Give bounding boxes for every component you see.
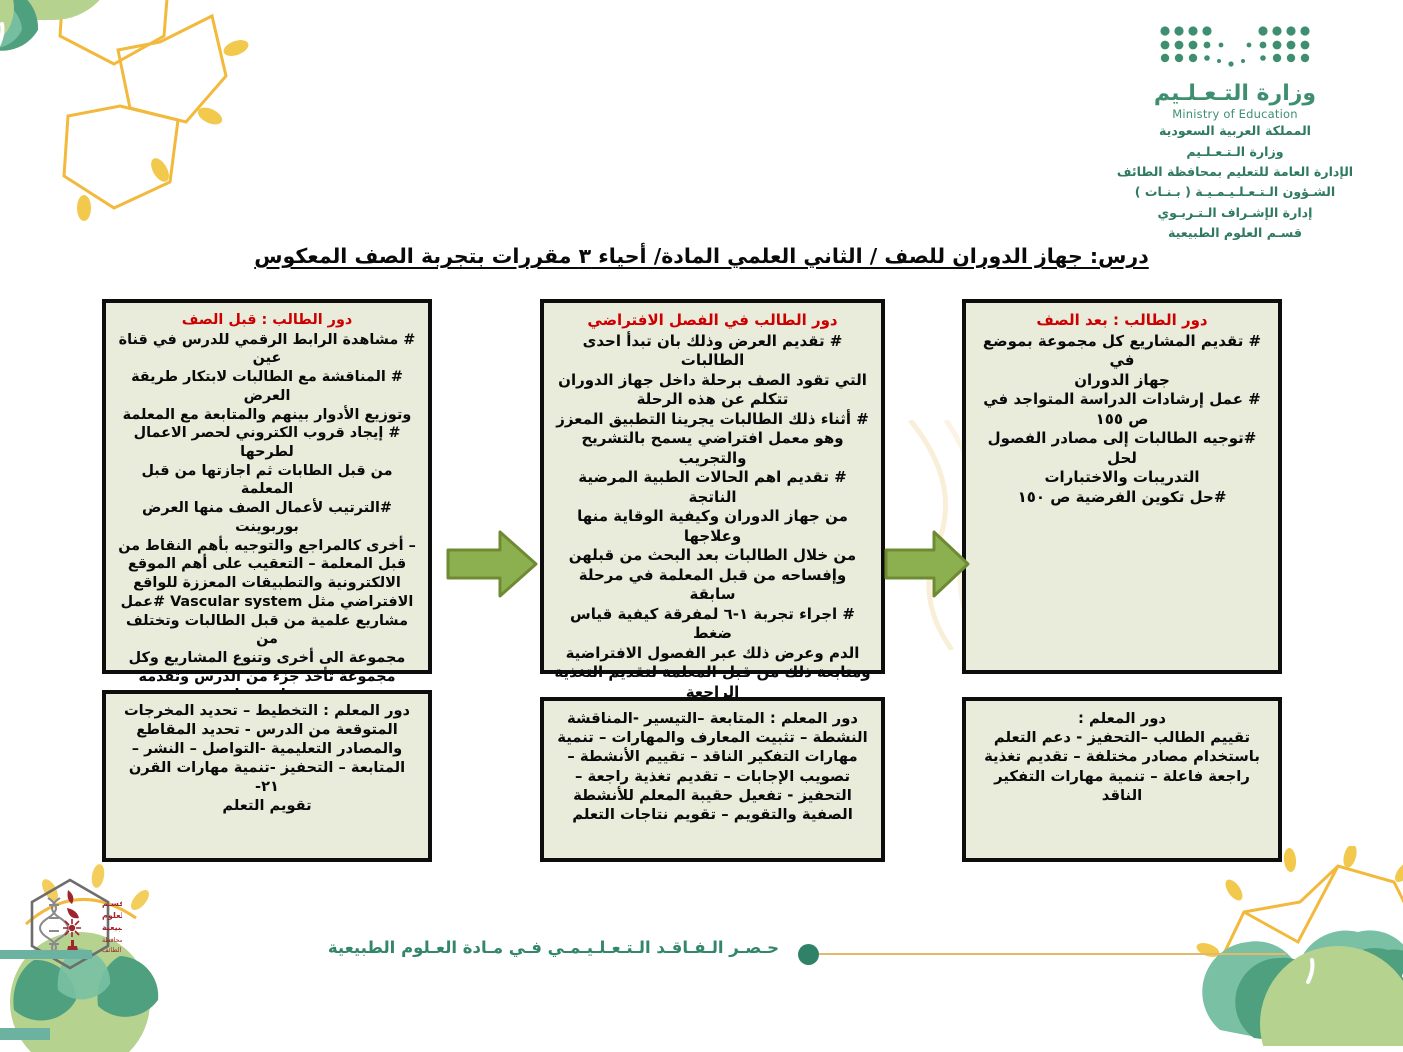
ministry-line-ministry: وزارة الـتـعـلـيم bbox=[1085, 142, 1385, 162]
text-line: # المناقشة مع الطالبات لابتكار طريقة الع… bbox=[116, 368, 418, 405]
box-student-role-after-class-title: دور الطالب : بعد الصف bbox=[976, 311, 1268, 331]
text-line: # أثناء ذلك الطالبات يجرينا التطبيق المع… bbox=[554, 410, 871, 430]
box-teacher-role-virtual-class: دور المعلم : المتابعة –التيسير -المناقشة… bbox=[540, 697, 885, 862]
flow-arrow-virtual-to-after bbox=[884, 528, 970, 604]
text-line: # اجراء تجربة ١-٦ لمفرقة كيفية قياس ضغط bbox=[554, 605, 871, 644]
text-line: وهو معمل افتراضي يسمح بالتشريح bbox=[554, 429, 871, 449]
natural-sciences-department-hexagon-logo-icon: قسـم العلوم الطبيعية بمحافظة الطائف bbox=[18, 872, 122, 976]
text-line: الافتراضي مثل Vascular system #عمل bbox=[116, 593, 418, 612]
text-line: من قبل الطابات ثم اجازتها من قبل المعلمة bbox=[116, 462, 418, 499]
text-line: الصفية والتقويم – تقويم نتاجات التعلم bbox=[554, 805, 871, 824]
svg-text:قسـم: قسـم bbox=[102, 899, 122, 908]
ministry-wordmark-en: Ministry of Education bbox=[1085, 107, 1385, 121]
text-line: تتكلم عن هذه الرحلة bbox=[554, 390, 871, 410]
ministry-line-directorate: الإدارة العامة للتعليم بمحافظة الطائف bbox=[1085, 162, 1385, 182]
box-teacher-role-before-class-body: دور المعلم : التخطيط – تحديد المخرجاتالم… bbox=[116, 702, 418, 816]
saudi-moe-palm-dots-logo-icon bbox=[1157, 24, 1313, 74]
text-line: #حل تكوين الفرضية ص ١٥٠ bbox=[976, 488, 1268, 508]
text-line: قبل المعلمة – التعقيب على أهم الموقع bbox=[116, 555, 418, 574]
text-line: #الترتيب لأعمال الصف منها العرض بوربوينت bbox=[116, 499, 418, 536]
text-line: دور المعلم : bbox=[976, 709, 1268, 728]
svg-text:الطائف: الطائف bbox=[102, 946, 122, 954]
floral-ornament-top-left-icon bbox=[0, 0, 264, 236]
text-line: والمصادر التعليمية -التواصل – النشر – bbox=[116, 740, 418, 759]
text-line: مهارات التفكير الناقد – تقييم الأنشطة – bbox=[554, 747, 871, 766]
box-student-role-before-class-body: # مشاهدة الرابط الرقمي للدرس في قناة عين… bbox=[116, 331, 418, 705]
text-line: وتوزيع الأدوار بينهم والمتابعة مع المعلم… bbox=[116, 406, 418, 425]
natural-sciences-department-logo: قسـم العلوم الطبيعية بمحافظة الطائف bbox=[18, 872, 122, 976]
text-line: #توجيه الطالبات إلى مصادر الفصول لحل bbox=[976, 429, 1268, 468]
footer-text: حـصـر الـفـاقـد الـتـعـلـيـمـي فـي مـادة… bbox=[328, 938, 779, 957]
text-line: مجموعة تأخذ جزء من الدرس وتقدمه bbox=[116, 668, 418, 687]
text-line: التي تقود الصف برحلة داخل جهاز الدوران bbox=[554, 371, 871, 391]
floral-ornament-bottom-right-icon bbox=[1188, 846, 1403, 1046]
footer-rule bbox=[816, 953, 1286, 955]
text-line: من جهاز الدوران وكيفية الوقاية منها وعلا… bbox=[554, 507, 871, 546]
text-line: مجموعة الى أخرى وتنوع المشاريع وكل bbox=[116, 649, 418, 668]
text-line: # تقديم العرض وذلك بان تبدأ احدى الطالبا… bbox=[554, 332, 871, 371]
text-line: تصويب الإجابات – تقديم تغذية راجعة – bbox=[554, 767, 871, 786]
ministry-wordmark-ar: وزارة التـعـلـيم bbox=[1085, 82, 1385, 106]
text-line: # عمل إرشادات الدراسة المتواجد في ص ١٥٥ bbox=[976, 390, 1268, 429]
text-line: الالكترونية والتطبيقات المعززة للواقع bbox=[116, 574, 418, 593]
right-arrow-icon bbox=[884, 528, 970, 600]
box-student-role-before-class-title: دور الطالب : قبل الصف bbox=[116, 311, 418, 330]
text-line: راجعة فاعلة – تنمية مهارات التفكير الناق… bbox=[976, 767, 1268, 805]
text-line: وإفساحه من قبل المعلمة في مرحلة سابقة bbox=[554, 566, 871, 605]
text-line: دور المعلم : التخطيط – تحديد المخرجات bbox=[116, 702, 418, 721]
box-student-role-after-class-body: # تقديم المشاريع كل مجموعة بموضع فيجهاز … bbox=[976, 332, 1268, 508]
text-line: # تقديم المشاريع كل مجموعة بموضع في bbox=[976, 332, 1268, 371]
box-student-role-virtual-class-title: دور الطالب في الفصل الافتراضي bbox=[554, 311, 871, 331]
box-student-role-virtual-class-body: # تقديم العرض وذلك بان تبدأ احدى الطالبا… bbox=[554, 332, 871, 703]
text-line: ومتابعة ذلك من قبل المعلمة لتقديم التغذي… bbox=[554, 663, 871, 683]
box-teacher-role-before-class: دور المعلم : التخطيط – تحديد المخرجاتالم… bbox=[102, 690, 432, 862]
ministry-header: وزارة التـعـلـيم Ministry of Education ا… bbox=[1085, 24, 1385, 244]
box-teacher-role-after-class: دور المعلم :تقييم الطالب –التحفيز - دعم … bbox=[962, 697, 1282, 862]
text-line: – أخرى كالمراجع والتوجيه بأهم النقاط من bbox=[116, 537, 418, 556]
text-line: جهاز الدوران bbox=[976, 371, 1268, 391]
text-line: تقويم التعلم bbox=[116, 797, 418, 816]
text-line: التدريبات والاختبارات bbox=[976, 468, 1268, 488]
text-line: المتوقعة من الدرس - تحديد المقاطع bbox=[116, 721, 418, 740]
text-line: النشطة – تثبيت المعارف والمهارات – تنمية bbox=[554, 728, 871, 747]
svg-text:العلوم: العلوم bbox=[102, 911, 122, 920]
text-line: باستخدام مصادر مختلفة – تقديم تغذية bbox=[976, 747, 1268, 766]
svg-text:بمحافظة: بمحافظة bbox=[102, 936, 122, 944]
text-line: # إيجاد قروب الكتروني لحصر الاعمال لطرحه… bbox=[116, 424, 418, 461]
ministry-line-department: قسـم العلوم الطبيعية bbox=[1085, 223, 1385, 243]
ministry-line-supervision: إدارة الإشـراف الـتـربـوي bbox=[1085, 203, 1385, 223]
text-line: والتجريب bbox=[554, 449, 871, 469]
text-line: دور المعلم : المتابعة –التيسير -المناقشة bbox=[554, 709, 871, 728]
box-student-role-virtual-class: دور الطالب في الفصل الافتراضي # تقديم ال… bbox=[540, 299, 885, 674]
box-student-role-before-class: دور الطالب : قبل الصف # مشاهدة الرابط ال… bbox=[102, 299, 432, 674]
flow-arrow-before-to-virtual bbox=[446, 528, 538, 604]
ministry-line-kingdom: المملكة العربية السعودية bbox=[1085, 121, 1385, 141]
footer-accent-band bbox=[0, 950, 92, 959]
text-line: # مشاهدة الرابط الرقمي للدرس في قناة عين bbox=[116, 331, 418, 368]
box-teacher-role-virtual-class-body: دور المعلم : المتابعة –التيسير -المناقشة… bbox=[554, 709, 871, 824]
ministry-line-affairs: الشـؤون الـتـعـلـيـمـيـة ( بـنـات ) bbox=[1085, 182, 1385, 202]
box-student-role-after-class: دور الطالب : بعد الصف # تقديم المشاريع ك… bbox=[962, 299, 1282, 674]
box-teacher-role-after-class-body: دور المعلم :تقييم الطالب –التحفيز - دعم … bbox=[976, 709, 1268, 805]
text-line: # تقديم اهم الحالات الطبية المرضية النات… bbox=[554, 468, 871, 507]
text-line: المتابعة – التحفيز -تنمية مهارات القرن ٢… bbox=[116, 759, 418, 797]
text-line: الدم وعرض ذلك عبر الفصول الافتراضية bbox=[554, 644, 871, 664]
bullet-dot-icon bbox=[798, 944, 819, 965]
text-line: التحفيز - تفعيل حقيبة المعلم للأنشطة bbox=[554, 786, 871, 805]
right-arrow-icon bbox=[446, 528, 538, 600]
svg-text:الطبيعية: الطبيعية bbox=[102, 923, 122, 932]
text-line: مشاريع علمية من قبل الطالبات وتختلف من bbox=[116, 612, 418, 649]
text-line: من خلال الطالبات بعد البحث من قبلهن bbox=[554, 546, 871, 566]
text-line: تقييم الطالب –التحفيز - دعم التعلم bbox=[976, 728, 1268, 747]
lesson-title: درس: جهاز الدوران للصف / الثاني العلمي ا… bbox=[0, 244, 1403, 268]
slide-canvas: وزارة التـعـلـيم Ministry of Education ا… bbox=[0, 0, 1403, 992]
